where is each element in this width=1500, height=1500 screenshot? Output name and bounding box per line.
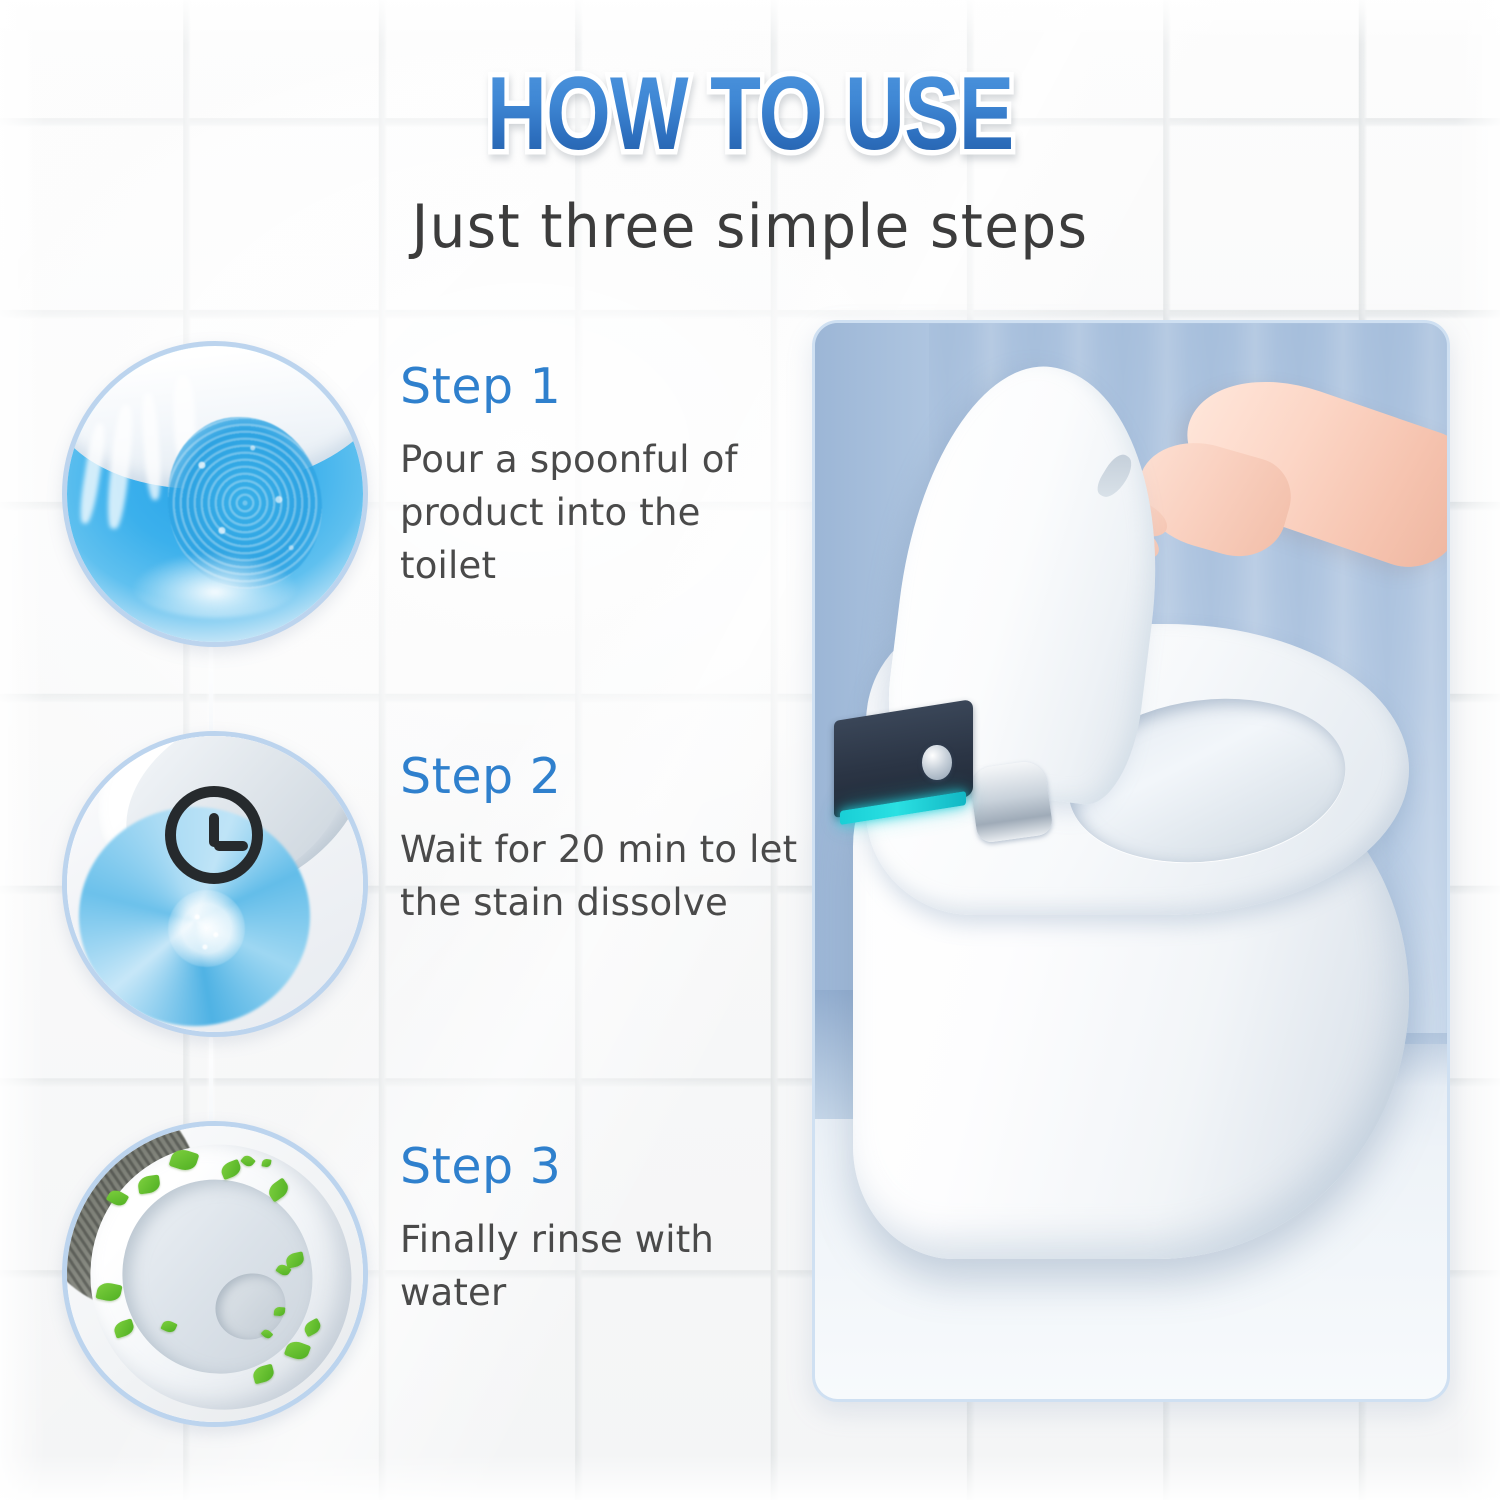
- page-subtitle: Just three simple steps: [45, 192, 1455, 262]
- step-3-text: Step 3 Finally rinse with water: [400, 1141, 800, 1320]
- header: HOW TO USE HOW TO USE Just three simple …: [0, 62, 1500, 262]
- step-connector-2-3: [209, 1037, 213, 1121]
- page-title-fill: HOW TO USE: [487, 62, 1014, 166]
- step-item-3: Step 3 Finally rinse with water: [0, 1115, 810, 1500]
- step-item-1: Step 1 Pour a spoonful of product into t…: [0, 335, 810, 725]
- dissolving-foam-icon: [168, 890, 245, 967]
- step-2-heading: Step 2: [400, 751, 800, 802]
- step-connector-1-2: [209, 647, 213, 731]
- step-3-body: Finally rinse with water: [400, 1214, 800, 1319]
- step-2-image: [62, 731, 368, 1037]
- toilet-lid-slot: [1093, 451, 1137, 503]
- step-1-heading: Step 1: [400, 361, 800, 412]
- page-title: HOW TO USE HOW TO USE: [421, 62, 1079, 166]
- step-3-heading: Step 3: [400, 1141, 800, 1192]
- step-3-image: [62, 1121, 368, 1427]
- step-2-text: Step 2 Wait for 20 min to let the stain …: [400, 751, 800, 930]
- step-1-text: Step 1 Pour a spoonful of product into t…: [400, 361, 800, 592]
- step-1-image: [62, 341, 368, 647]
- toilet-lid-hinge: [968, 759, 1054, 844]
- step-2-body: Wait for 20 min to let the stain dissolv…: [400, 824, 800, 929]
- foam-icon: [132, 553, 298, 618]
- product-photo: [812, 320, 1450, 1402]
- step-1-body: Pour a spoonful of product into the toil…: [400, 434, 800, 592]
- step-item-2: Step 2 Wait for 20 min to let the stain …: [0, 725, 810, 1115]
- infographic-poster: HOW TO USE HOW TO USE Just three simple …: [0, 0, 1500, 1500]
- control-knob: [922, 745, 951, 781]
- clock-icon: [165, 786, 263, 884]
- steps-list: Step 1 Pour a spoonful of product into t…: [0, 335, 810, 1500]
